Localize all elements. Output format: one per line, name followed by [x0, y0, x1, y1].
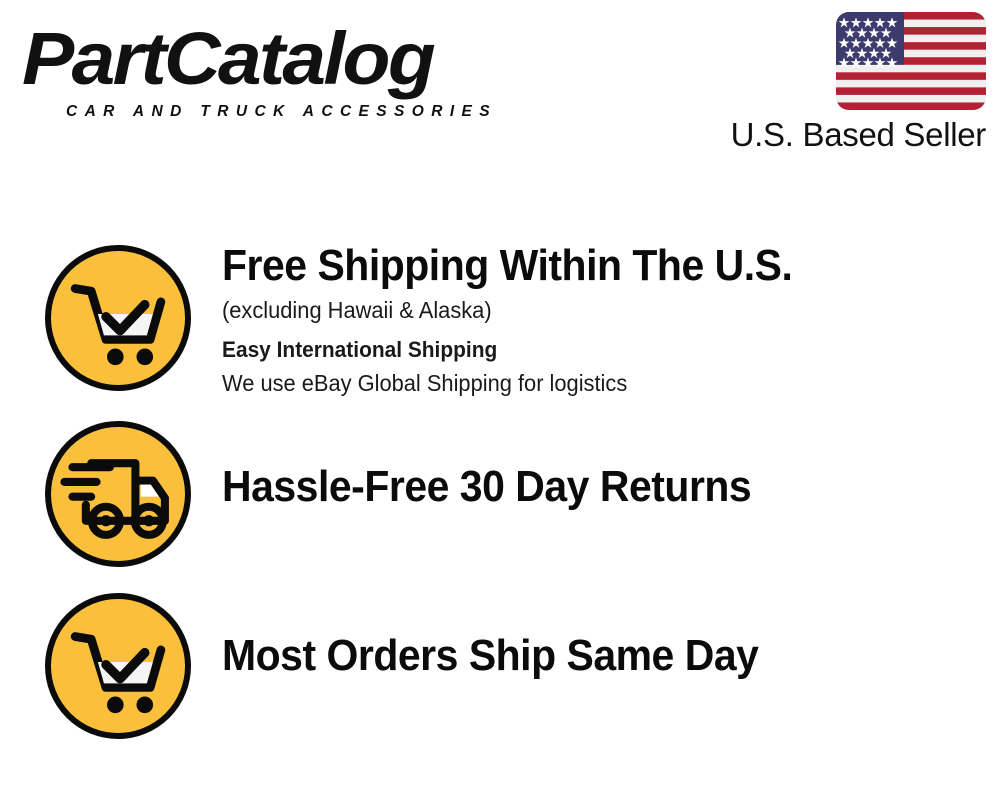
benefit-text-block: Free Shipping Within The U.S. (excluding… [222, 240, 980, 399]
benefit-text-block: Most Orders Ship Same Day [222, 630, 980, 682]
shopping-cart-check-icon [45, 245, 191, 391]
us-flag-icon [836, 12, 986, 110]
brand-tagline: CAR AND TRUCK ACCESSORIES [66, 104, 497, 120]
benefit-row: Hassle-Free 30 Day Returns [0, 415, 1000, 575]
benefit-subline: Easy International Shipping [222, 333, 942, 367]
brand-wordmark: PartCatalog [22, 22, 433, 96]
benefit-row: Free Shipping Within The U.S. (excluding… [0, 240, 1000, 408]
shopping-cart-check-icon [45, 593, 191, 739]
benefit-title: Hassle-Free 30 Day Returns [222, 461, 927, 513]
benefit-subline: We use eBay Global Shipping for logistic… [222, 367, 942, 399]
benefit-text-block: Hassle-Free 30 Day Returns [222, 461, 980, 513]
benefit-title: Most Orders Ship Same Day [222, 630, 927, 682]
benefit-subline: (excluding Hawaii & Alaska) [222, 294, 942, 326]
benefit-title: Free Shipping Within The U.S. [222, 240, 927, 292]
us-based-seller-label: U.S. Based Seller [731, 116, 986, 154]
delivery-truck-icon [45, 421, 191, 567]
benefit-row: Most Orders Ship Same Day [0, 588, 1000, 744]
page-header: PartCatalog CAR AND TRUCK ACCESSORIES [0, 0, 1000, 170]
brand-logo[interactable]: PartCatalog CAR AND TRUCK ACCESSORIES [22, 22, 492, 112]
